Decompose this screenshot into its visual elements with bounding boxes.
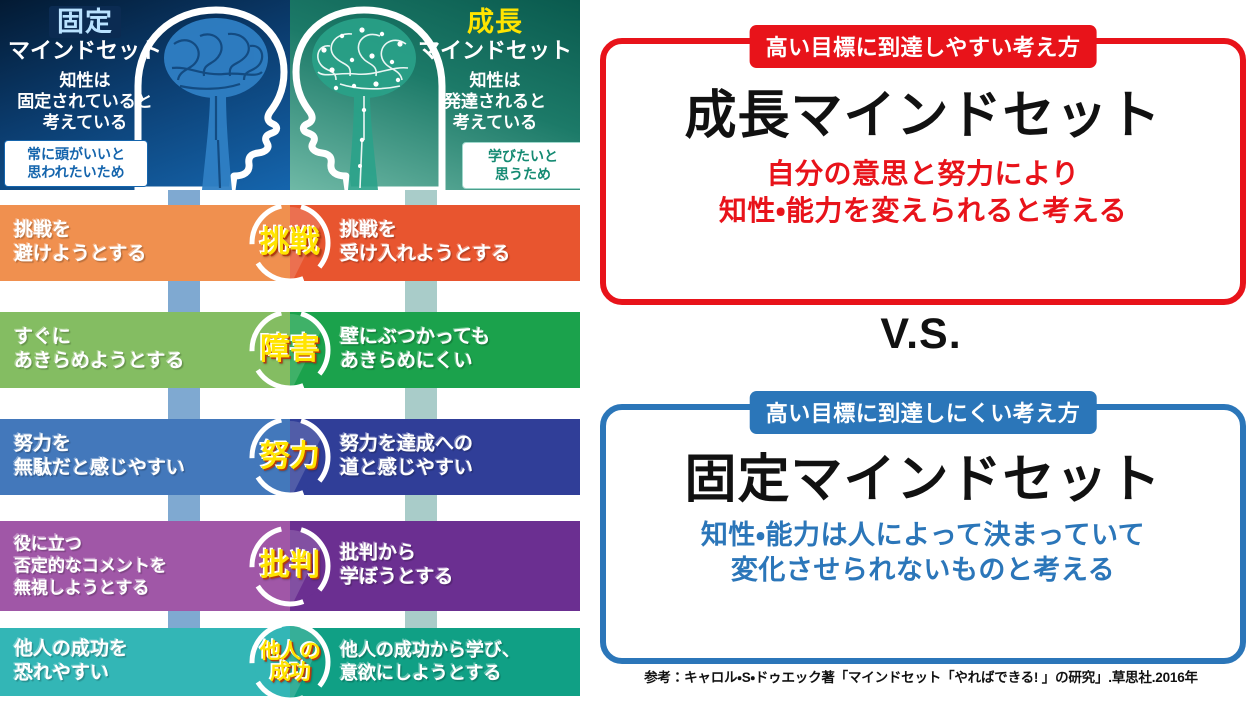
badge-label: 挑戦 (260, 228, 320, 259)
row-badge: 障害 (247, 307, 333, 393)
row-growth-text: 努力を達成への 道と感じやすい (340, 433, 473, 482)
fixed-card-title: 固定マインドセット (606, 452, 1240, 508)
hero-growth-title-sub: マインドセット (410, 39, 580, 64)
badge-label: 批判 (260, 551, 320, 582)
row-growth-text: 挑戦を 受け入れようとする (340, 219, 510, 268)
row-fixed-text: すぐに あきらめようとする (14, 326, 184, 375)
row-fixed-text: 役に立つ 否定的なコメントを 無視しようとする (14, 533, 167, 598)
row-badge: 努力 (247, 414, 333, 500)
hero-fixed-note: 常に頭がいいと 思われたいため (4, 140, 148, 187)
row-fixed-text: 他人の成功を 恐れやすい (14, 638, 128, 687)
row-badge: 挑戦 (247, 200, 333, 286)
growth-card-tag: 高い目標に到達しやすい考え方 (750, 25, 1097, 68)
row-badge: 他人の 成功 (247, 619, 333, 705)
summary-panel: 高い目標に到達しやすい考え方 成長マインドセット 自分の意思と努力により 知性・… (588, 0, 1254, 703)
fixed-mindset-card: 高い目標に到達しにくい考え方 固定マインドセット 知性・能力は人によって決まって… (600, 404, 1246, 664)
comparison-row: 努力を 無駄だと感じやすい努力を達成への 道と感じやすい努力 (0, 419, 580, 495)
hero-growth-description: 知性は 発達されると 考えている (410, 70, 580, 134)
growth-card-description: 自分の意思と努力により 知性・能力を変えられると考える (606, 156, 1240, 229)
comparison-row: すぐに あきらめようとする壁にぶつかっても あきらめにくい障害 (0, 312, 580, 388)
row-fixed-text: 挑戦を 避けようとする (14, 219, 146, 268)
vs-label: V.S. (588, 310, 1254, 359)
row-growth-text: 壁にぶつかっても あきらめにくい (340, 326, 490, 375)
hero-fixed-title-main: 固定 (49, 6, 121, 38)
comparison-row: 他人の成功を 恐れやすい他人の成功から学び、 意欲にしようとする他人の 成功 (0, 628, 580, 696)
hero-growth-title: 成長 マインドセット 知性は 発達されると 考えている (410, 6, 580, 134)
hero-growth-note: 学びたいと 思うため (462, 142, 580, 189)
hero-fixed-title: 固定 マインドセット 知性は 固定されていると 考えている (0, 6, 170, 134)
badge-label: 他人の 成功 (260, 641, 320, 684)
comparison-row: 役に立つ 否定的なコメントを 無視しようとする批判から 学ぼうとする批判 (0, 521, 580, 611)
fixed-card-description: 知性・能力は人によって決まっていて 変化させられないものと考える (606, 518, 1240, 588)
growth-card-title: 成長マインドセット (606, 88, 1240, 144)
hero-growth-title-main: 成長 (459, 6, 531, 38)
badge-label: 障害 (260, 335, 320, 366)
hero-fixed-description: 知性は 固定されていると 考えている (0, 70, 170, 134)
row-fixed-text: 努力を 無駄だと感じやすい (14, 433, 185, 482)
hero-header: 固定 マインドセット 知性は 固定されていると 考えている 成長 マインドセット… (0, 0, 580, 190)
hero-fixed-title-sub: マインドセット (0, 39, 170, 64)
fixed-card-tag: 高い目標に到達しにくい考え方 (750, 391, 1097, 434)
comparison-row: 挑戦を 避けようとする挑戦を 受け入れようとする挑戦 (0, 205, 580, 281)
badge-label: 努力 (260, 442, 320, 473)
row-badge: 批判 (247, 523, 333, 609)
growth-mindset-card: 高い目標に到達しやすい考え方 成長マインドセット 自分の意思と努力により 知性・… (600, 38, 1246, 305)
mindset-comparison-infographic: 固定 マインドセット 知性は 固定されていると 考えている 成長 マインドセット… (0, 0, 580, 703)
source-citation: 参考：キャロル・S・ドゥエック著「マインドセット「やればできる! 」の研究」.草… (588, 666, 1254, 686)
row-growth-text: 他人の成功から学び、 意欲にしようとする (340, 639, 520, 685)
row-growth-text: 批判から 学ぼうとする (340, 542, 453, 591)
